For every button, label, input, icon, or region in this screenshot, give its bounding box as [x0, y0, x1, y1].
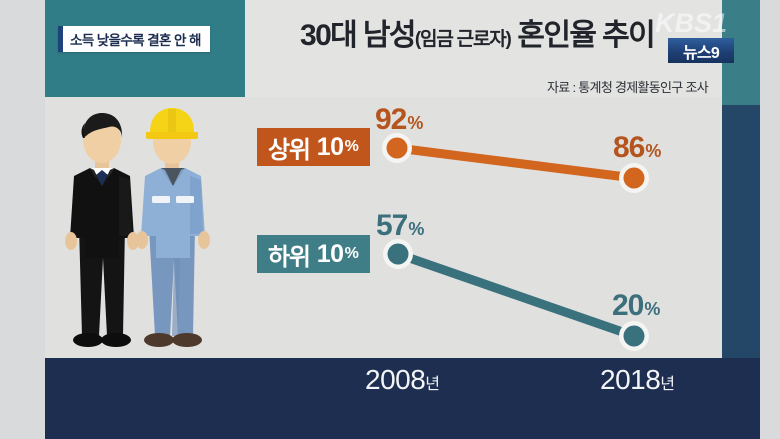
subtitle-banner: 소득 낮을수록 결혼 안 해 — [58, 26, 210, 52]
subtitle-accent-bar — [58, 26, 63, 52]
year-2018-suffix: 년 — [660, 376, 674, 393]
title-main: 30대 남성 — [300, 19, 415, 52]
axis-label-2008: 2008년 — [365, 366, 440, 394]
news-program-badge: 뉴스9 — [668, 38, 734, 63]
title-paren: (임금 근로자) — [415, 29, 511, 50]
year-2008: 2008 — [365, 364, 425, 395]
left-margin — [0, 0, 45, 439]
infographic-root: 소득 낮을수록 결혼 안 해 30대 남성(임금 근로자) 혼인율 추이 자료 … — [0, 0, 780, 439]
news-badge-label: 뉴스9 — [683, 39, 719, 63]
navy-right-band — [722, 105, 760, 358]
people-illustration — [52, 108, 232, 358]
figures-svg — [52, 108, 232, 358]
kbs-watermark: KBS1 — [655, 8, 727, 39]
businessman-icon — [65, 113, 139, 347]
subtitle-text: 소득 낮을수록 결혼 안 해 — [70, 29, 201, 49]
axis-label-2018: 2018년 — [600, 366, 675, 394]
right-margin — [760, 0, 780, 439]
construction-worker-icon — [136, 108, 210, 347]
source-note: 자료 : 통계청 경제활동인구 조사 — [300, 77, 720, 96]
year-2018: 2018 — [600, 364, 660, 395]
title-tail: 혼인율 추이 — [511, 19, 654, 52]
year-2008-suffix: 년 — [425, 376, 439, 393]
